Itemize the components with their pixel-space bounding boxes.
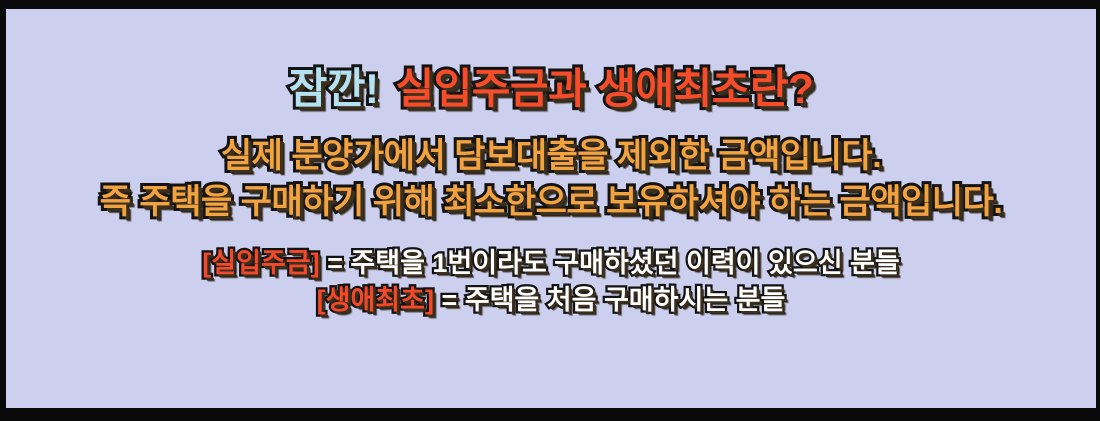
- banner-content-panel: 잠깐! 실입주금과 생애최초란? 실제 분양가에서 담보대출을 제외한 금액입니…: [6, 9, 1096, 408]
- definition-text-2: = 주택을 처음 구매하시는 분들: [434, 285, 785, 315]
- body-line-1: 실제 분양가에서 담보대출을 제외한 금액입니다.: [221, 139, 881, 173]
- definition-term-1: [실입주금]: [202, 248, 319, 278]
- definition-text-1: = 주택을 1번이라도 구매하셨던 이력이 있으신 분들: [320, 248, 900, 278]
- body-line-2: 즉 주택을 구매하기 위해 최소한으로 보유하셔야 하는 금액입니다.: [100, 185, 1003, 219]
- banner-title: 잠깐! 실입주금과 생애최초란?: [289, 68, 814, 110]
- banner-definitions: [실입주금] = 주택을 1번이라도 구매하셨던 이력이 있으신 분들 [생애최…: [202, 249, 899, 315]
- definition-row: [실입주금] = 주택을 1번이라도 구매하셨던 이력이 있으신 분들: [202, 249, 899, 277]
- info-banner: 잠깐! 실입주금과 생애최초란? 실제 분양가에서 담보대출을 제외한 금액입니…: [0, 0, 1100, 421]
- title-pause-label: 잠깐!: [289, 68, 379, 110]
- title-main-label: 실입주금과 생애최초란?: [396, 68, 814, 110]
- banner-body: 실제 분양가에서 담보대출을 제외한 금액입니다. 즉 주택을 구매하기 위해 …: [100, 139, 1003, 219]
- definition-row: [생애최초] = 주택을 처음 구매하시는 분들: [317, 286, 786, 314]
- definition-term-2: [생애최초]: [317, 285, 434, 315]
